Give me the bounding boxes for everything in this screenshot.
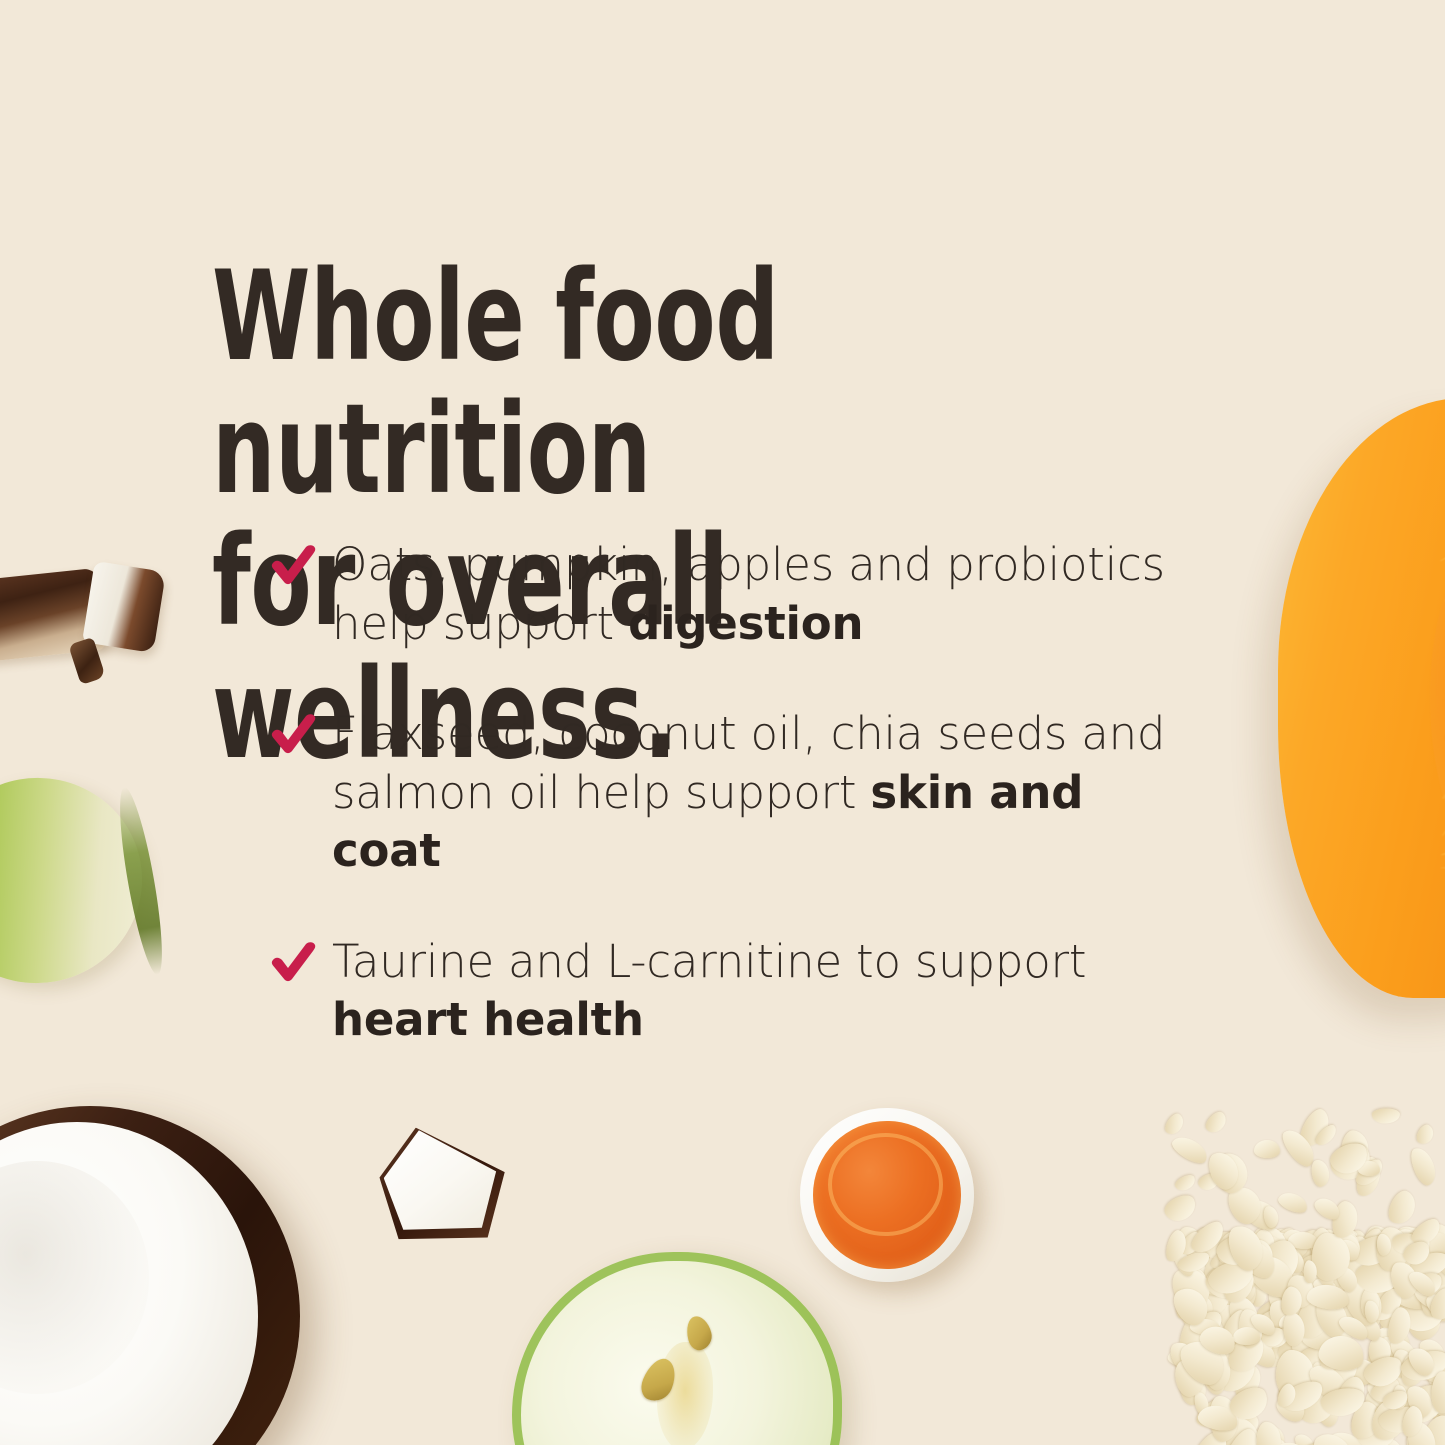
- check-icon: [270, 713, 322, 755]
- list-item-text: Flaxseed, coconut oil, chia seeds and sa…: [332, 705, 1200, 881]
- list-item: Taurine and L-carnitine to support heart…: [270, 933, 1200, 1050]
- bullet-normal-text: Taurine and L-carnitine to support: [332, 935, 1086, 988]
- check-icon: [270, 544, 322, 586]
- text-layer: Whole food nutrition for overall wellnes…: [0, 0, 1445, 1445]
- list-item: Oats, pumpkin, apples and probiotics hel…: [270, 536, 1200, 653]
- list-item-text: Oats, pumpkin, apples and probiotics hel…: [332, 536, 1200, 653]
- check-icon: [270, 941, 322, 983]
- promo-graphic: Whole food nutrition for overall wellnes…: [0, 0, 1445, 1445]
- benefits-list: Oats, pumpkin, apples and probiotics hel…: [270, 536, 1200, 1050]
- list-item-text: Taurine and L-carnitine to support heart…: [332, 933, 1200, 1050]
- bullet-bold-text: digestion: [628, 597, 863, 650]
- bullet-bold-text: heart health: [332, 993, 644, 1046]
- list-item: Flaxseed, coconut oil, chia seeds and sa…: [270, 705, 1200, 881]
